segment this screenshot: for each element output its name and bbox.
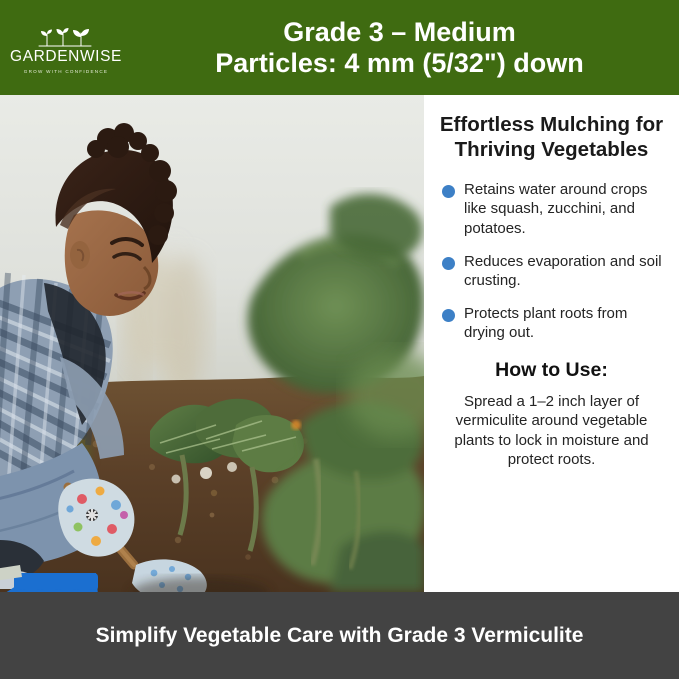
footer-banner: Simplify Vegetable Care with Grade 3 Ver… — [0, 592, 679, 679]
benefit-text: Retains water around crops like squash, … — [464, 180, 666, 238]
brand-tagline: GROW WITH CONFIDENCE — [24, 69, 108, 74]
product-infographic: GARDENWISE GROW WITH CONFIDENCE Grade 3 … — [0, 0, 679, 679]
footer-text: Simplify Vegetable Care with Grade 3 Ver… — [48, 622, 632, 649]
product-lifestyle-photo — [0, 95, 424, 592]
bullet-dot-icon — [442, 257, 455, 270]
list-item: Protects plant roots from drying out. — [442, 304, 666, 342]
header-title-line-1: Grade 3 – Medium — [134, 17, 665, 48]
how-to-use-heading: How to Use: — [437, 359, 666, 382]
benefit-text: Protects plant roots from drying out. — [464, 304, 666, 342]
bullet-dot-icon — [442, 309, 455, 322]
list-item: Retains water around crops like squash, … — [442, 180, 666, 238]
brand-logo: GARDENWISE GROW WITH CONFIDENCE — [0, 21, 132, 74]
header-title-group: Grade 3 – Medium Particles: 4 mm (5/32")… — [132, 17, 679, 78]
bullet-dot-icon — [442, 185, 455, 198]
benefit-text: Reduces evaporation and soil crusting. — [464, 252, 666, 290]
header-title-line-2: Particles: 4 mm (5/32") down — [134, 48, 665, 79]
panel-heading: Effortless Mulching for Thriving Vegetab… — [437, 113, 666, 162]
info-panel: Effortless Mulching for Thriving Vegetab… — [424, 95, 679, 592]
header-banner: GARDENWISE GROW WITH CONFIDENCE Grade 3 … — [0, 0, 679, 95]
how-to-use-body: Spread a 1–2 inch layer of vermiculite a… — [437, 392, 666, 470]
three-sprouting-plants-icon — [37, 25, 95, 47]
brand-name: GARDENWISE — [10, 49, 122, 65]
list-item: Reduces evaporation and soil crusting. — [442, 252, 666, 290]
benefits-list: Retains water around crops like squash, … — [437, 180, 666, 342]
